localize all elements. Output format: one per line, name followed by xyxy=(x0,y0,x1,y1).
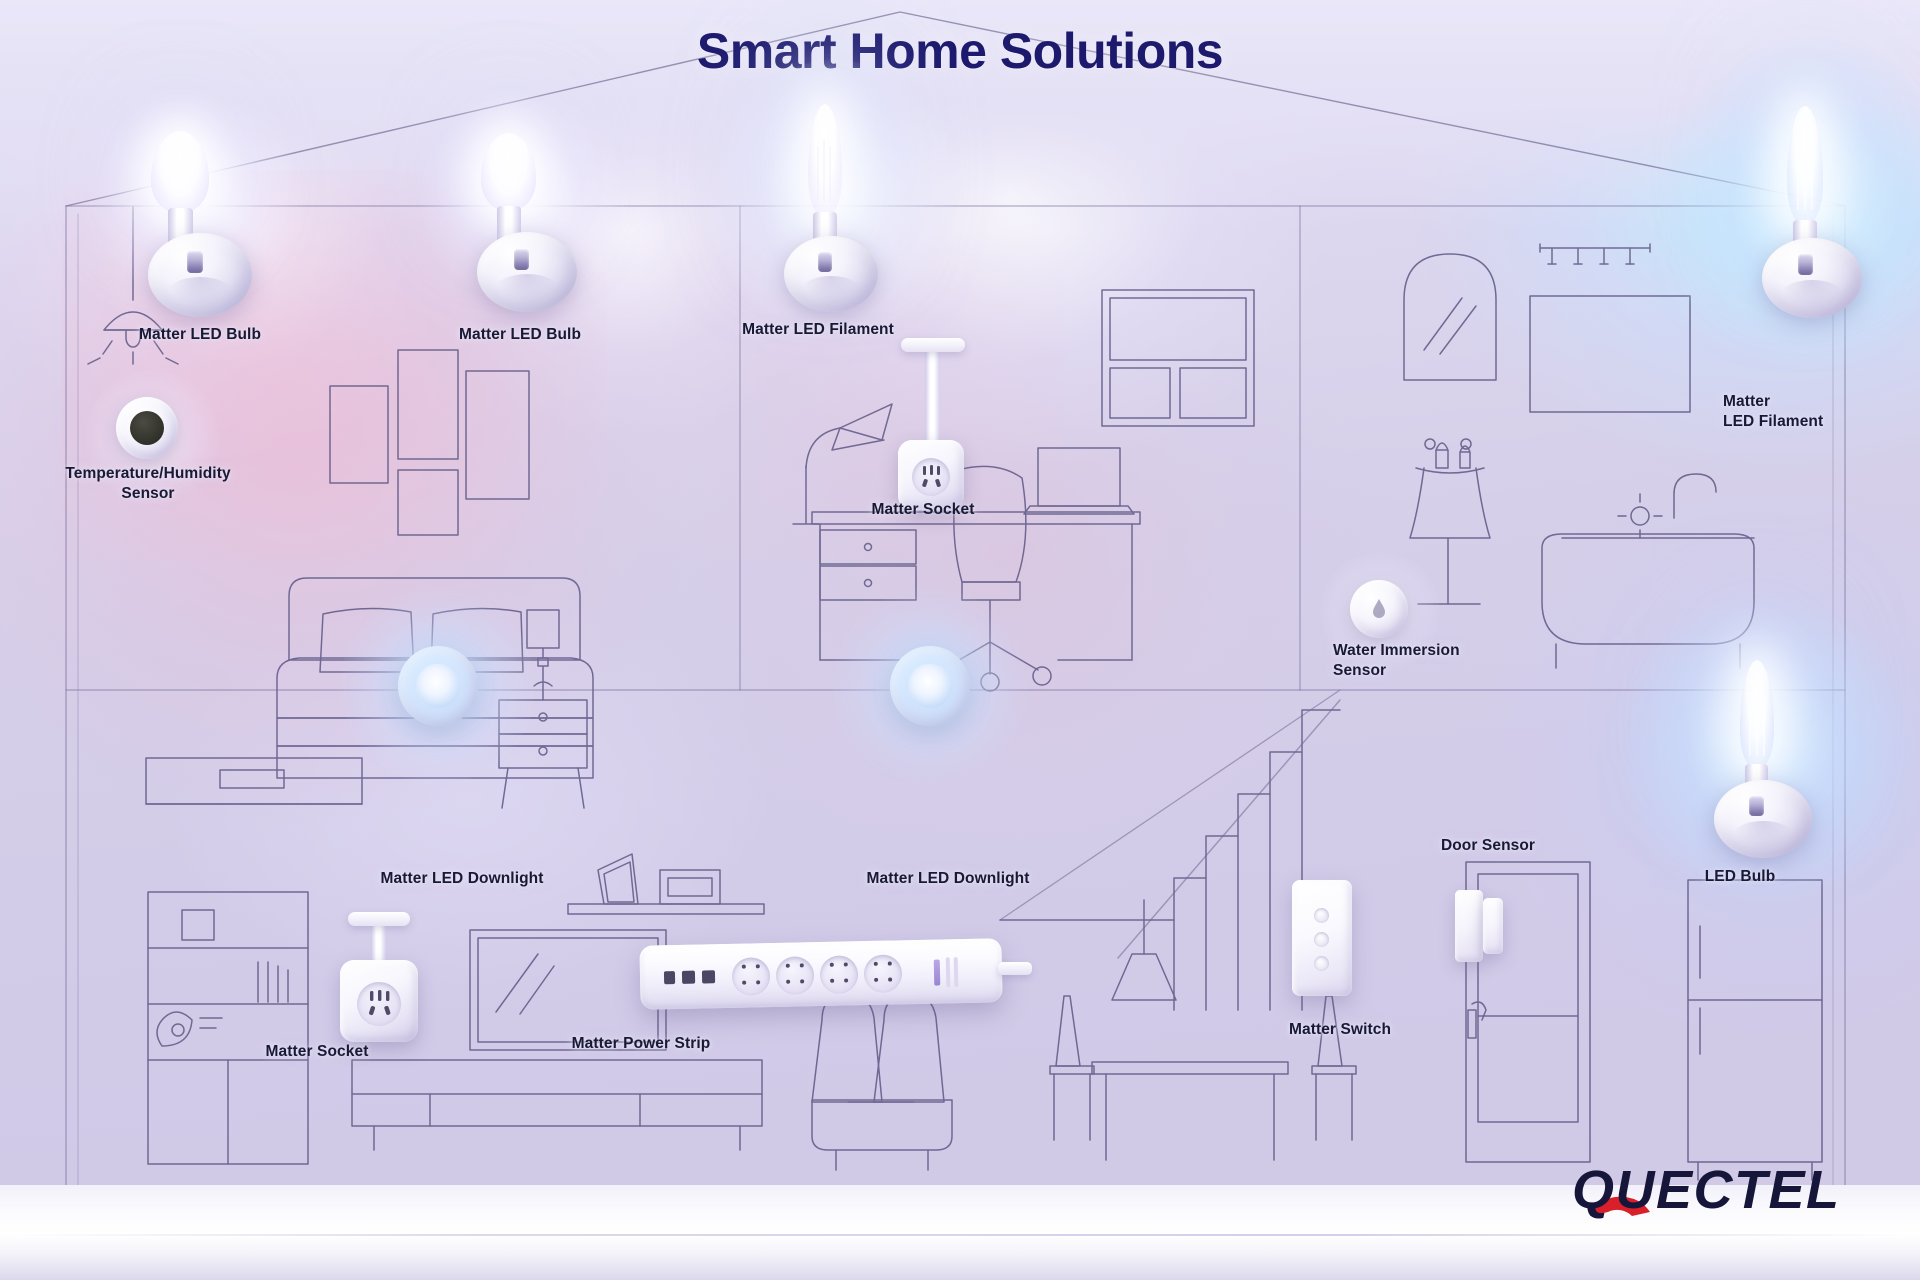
matter-led-bulb-2-label: Matter LED Bulb xyxy=(459,325,581,345)
filament-wires xyxy=(1791,124,1819,216)
usb-port xyxy=(664,971,675,984)
eu-socket xyxy=(732,957,771,996)
eu-socket xyxy=(864,954,903,993)
bulb-socket-cap xyxy=(514,249,529,270)
socket-icon xyxy=(340,960,418,1042)
eu-socket xyxy=(820,955,859,994)
socket-top-bar xyxy=(348,912,410,926)
page-title: Smart Home Solutions xyxy=(697,22,1223,80)
bulb-socket-cap xyxy=(187,251,203,273)
water-immersion-sensor-label: Water Immersion Sensor xyxy=(1333,641,1460,681)
matter-power-strip-label: Matter Power Strip xyxy=(572,1034,711,1054)
matter-socket-living-label: Matter Socket xyxy=(266,1042,369,1062)
quectel-logo: QUECTEL xyxy=(1568,1150,1898,1230)
power-cord xyxy=(998,962,1032,975)
matter-led-downlight-2-label: Matter LED Downlight xyxy=(866,869,1029,889)
power-strip-icon xyxy=(639,938,1002,1010)
matter-led-bulb-1-label: Matter LED Bulb xyxy=(139,325,261,345)
power-indicator xyxy=(954,957,959,987)
switch-icon xyxy=(1292,880,1352,996)
eu-socket xyxy=(776,956,815,995)
water-drop-icon xyxy=(1371,598,1387,620)
led-bulb-kitchen-label: LED Bulb xyxy=(1705,867,1776,887)
usb-port xyxy=(702,970,715,983)
power-switch[interactable] xyxy=(934,960,941,986)
sconce-base xyxy=(1762,238,1862,318)
door-sensor-icon xyxy=(1455,890,1483,962)
socket-pins xyxy=(364,989,396,1021)
matter-socket-office-label: Matter Socket xyxy=(872,500,975,520)
bulb-socket-cap xyxy=(1749,796,1764,816)
bulb-socket-cap xyxy=(1798,254,1813,275)
filament-wires xyxy=(812,120,838,208)
matter-led-filament-2-label: Matter LED Filament xyxy=(1723,392,1823,432)
downlight-icon xyxy=(890,646,970,726)
sconce-base xyxy=(1714,780,1812,858)
door-sensor-label: Door Sensor xyxy=(1441,836,1535,856)
temperature-humidity-sensor-label: Temperature/Humidity Sensor xyxy=(65,464,230,504)
sconce-base xyxy=(784,236,878,312)
matter-led-downlight-1-label: Matter LED Downlight xyxy=(380,869,543,889)
bulb-socket-cap xyxy=(818,252,832,272)
socket-stem xyxy=(925,348,940,448)
logo-wordmark: QUECTEL xyxy=(1572,1160,1841,1220)
matter-led-filament-1-label: Matter LED Filament xyxy=(742,320,894,340)
matter-switch-label: Matter Switch xyxy=(1289,1020,1391,1040)
door-sensor-magnet xyxy=(1483,898,1503,954)
power-indicator xyxy=(946,957,951,987)
filament-wires xyxy=(1744,676,1770,762)
temperature-humidity-sensor-icon xyxy=(116,397,178,459)
smart-home-poster: Smart Home Solutions Matter LED Bulb Mat… xyxy=(0,0,1920,1280)
usb-port xyxy=(682,971,695,984)
sconce-base xyxy=(148,233,252,317)
water-sensor-icon xyxy=(1350,580,1408,638)
downlight-icon xyxy=(398,646,478,726)
socket-pins xyxy=(918,464,946,492)
sconce-base xyxy=(477,232,577,312)
socket-top-bar xyxy=(901,338,965,352)
